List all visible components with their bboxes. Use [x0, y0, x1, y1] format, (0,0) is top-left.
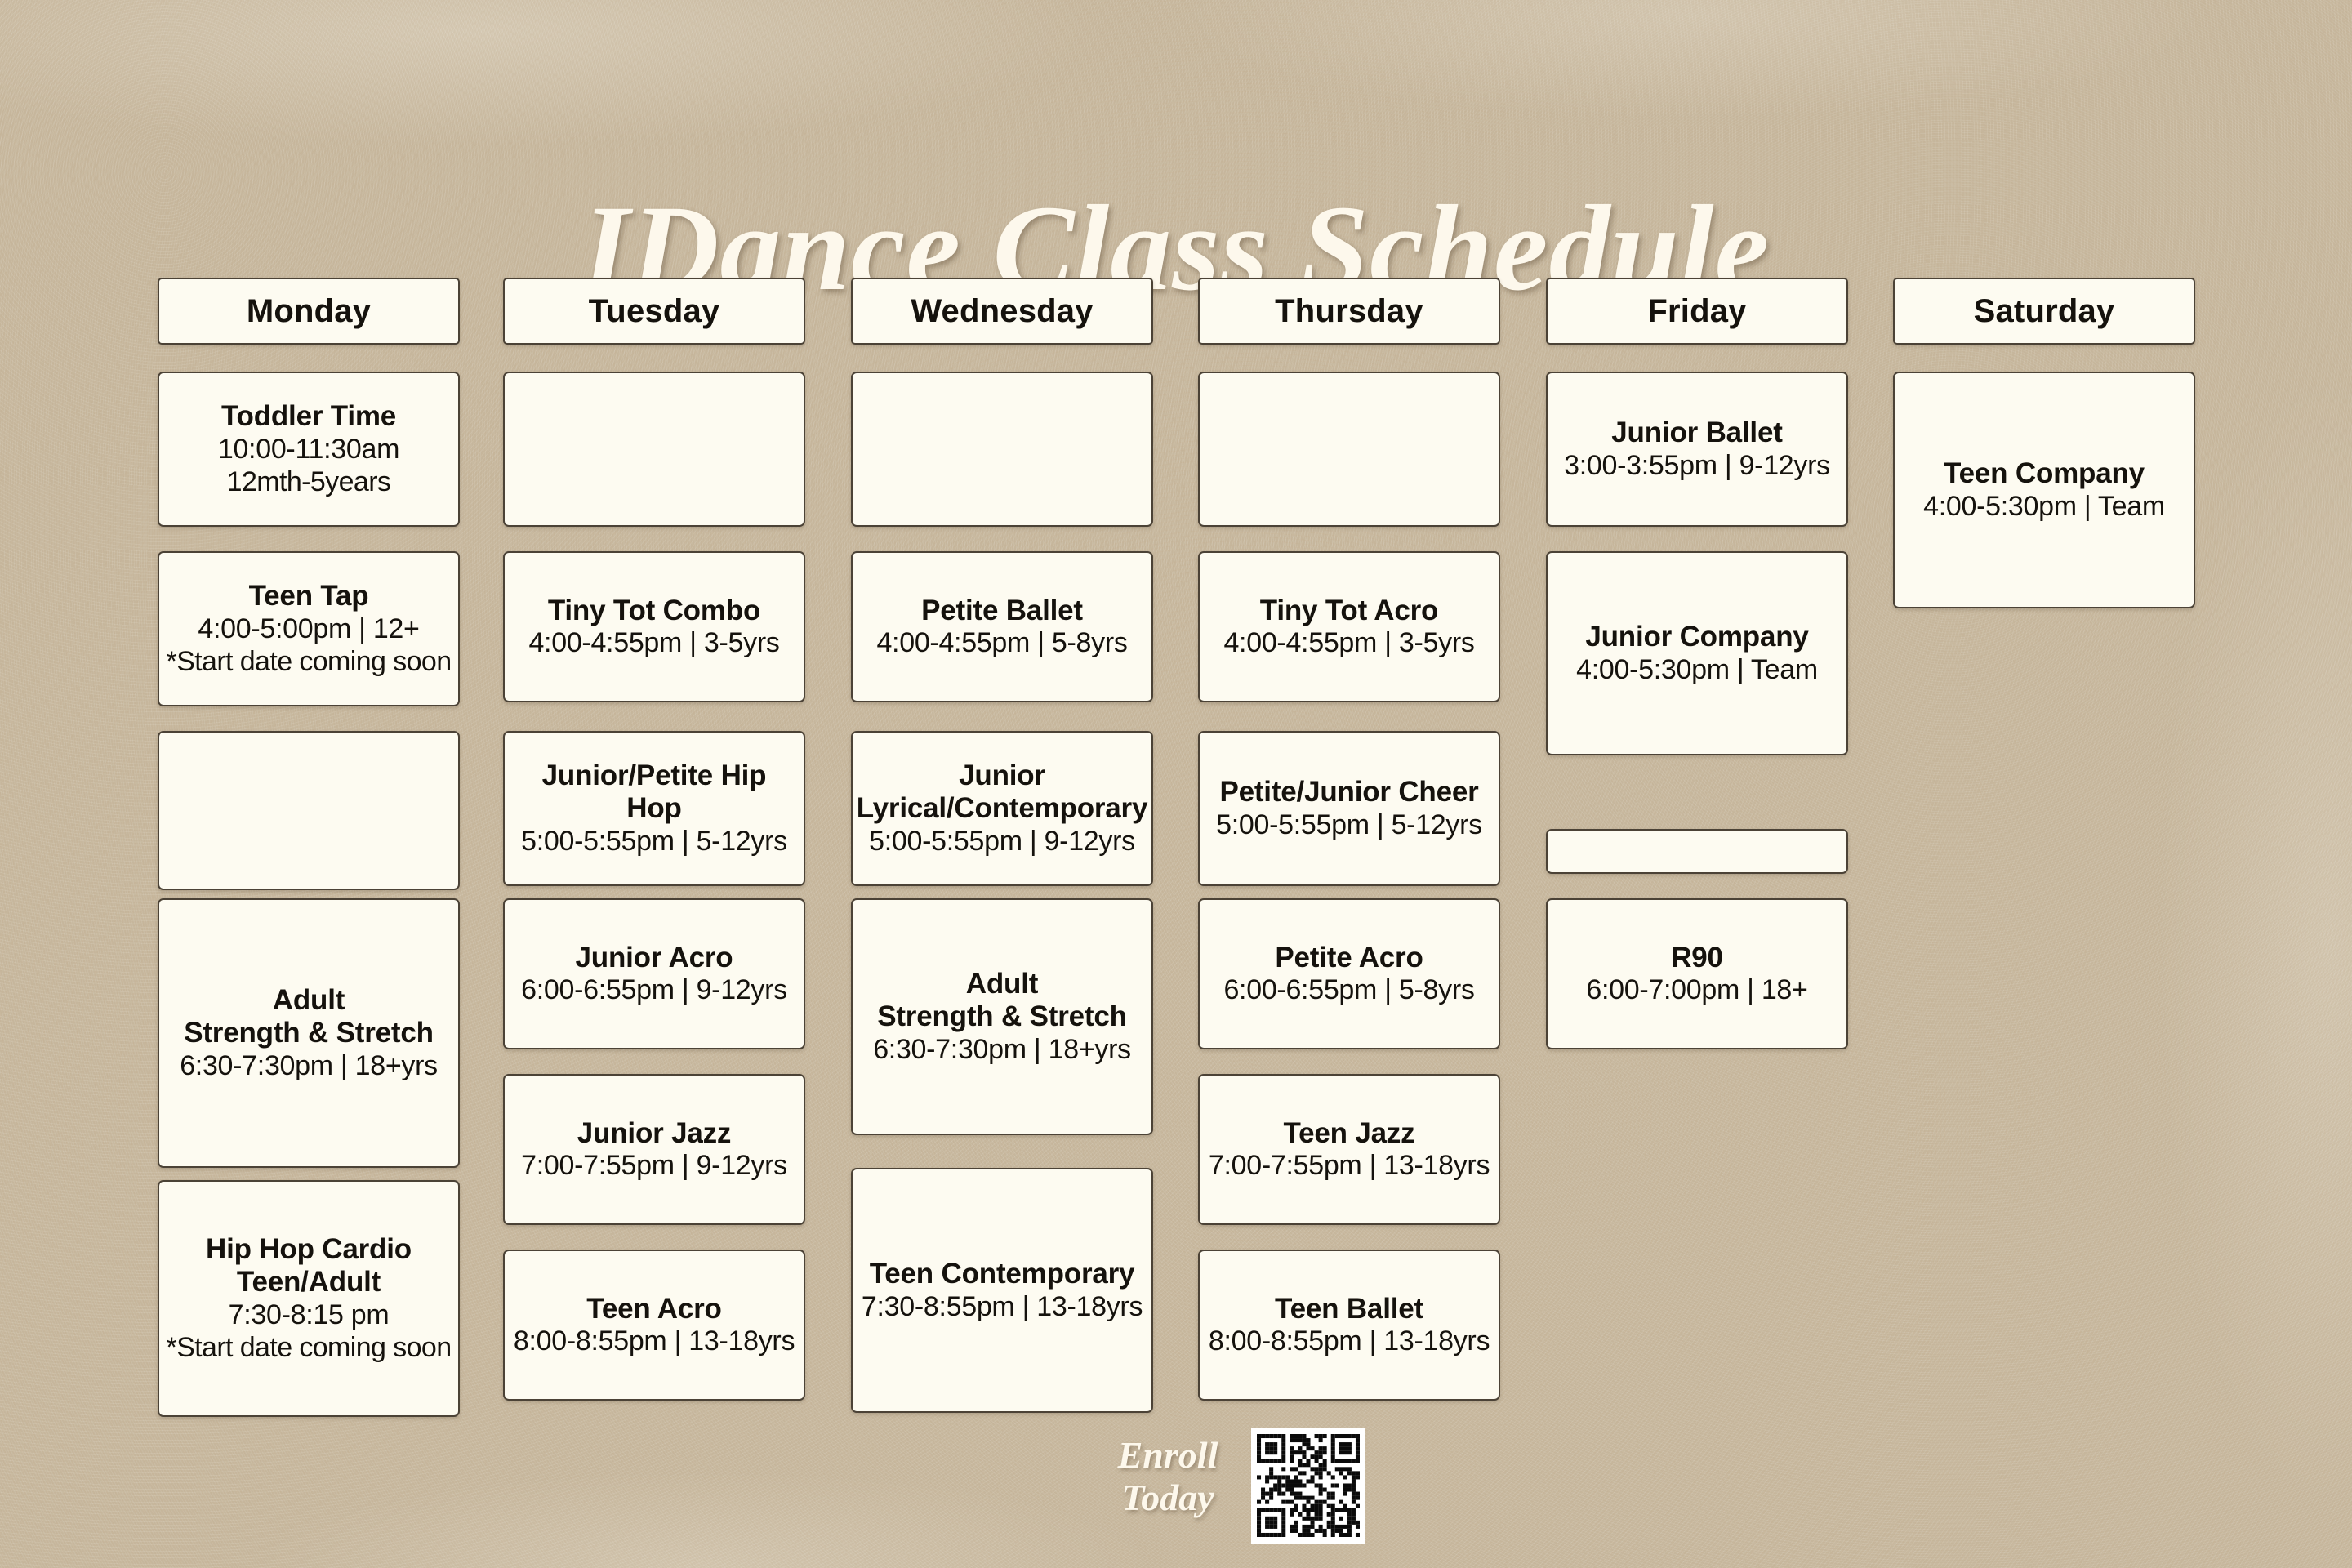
- class-card[interactable]: Junior Acro6:00-6:55pm | 9-12yrs: [503, 898, 805, 1049]
- qr-code[interactable]: [1251, 1428, 1365, 1543]
- schedule-grid: MondayToddler Time10:00-11:30am12mth-5ye…: [0, 0, 2352, 1568]
- day-header-label: Monday: [247, 293, 371, 329]
- class-time-age: 3:00-3:55pm | 9-12yrs: [1564, 449, 1830, 482]
- class-card[interactable]: Hip Hop CardioTeen/Adult7:30-8:15 pm*Sta…: [158, 1180, 460, 1417]
- class-name: Teen Ballet: [1275, 1293, 1423, 1325]
- enroll-line-1: Enroll: [1094, 1434, 1241, 1477]
- class-name: R90: [1671, 942, 1723, 974]
- class-card-empty: [503, 372, 805, 527]
- class-time-age: 7:00-7:55pm | 13-18yrs: [1209, 1149, 1490, 1182]
- class-time-age: 7:00-7:55pm | 9-12yrs: [521, 1149, 787, 1182]
- class-name: Junior Acro: [576, 942, 733, 974]
- day-header-wednesday: Wednesday: [851, 278, 1153, 345]
- class-card[interactable]: Teen Contemporary7:30-8:55pm | 13-18yrs: [851, 1168, 1153, 1413]
- day-header-monday: Monday: [158, 278, 460, 345]
- day-header-label: Thursday: [1275, 293, 1423, 329]
- class-time-age: 4:00-4:55pm | 3-5yrs: [1223, 626, 1474, 659]
- class-card[interactable]: Teen Acro8:00-8:55pm | 13-18yrs: [503, 1249, 805, 1401]
- class-card[interactable]: Petite/Junior Cheer5:00-5:55pm | 5-12yrs: [1198, 731, 1500, 886]
- class-card-empty: [158, 731, 460, 890]
- class-name: Tiny Tot Acro: [1260, 595, 1438, 627]
- class-name: Junior Company: [1585, 621, 1808, 653]
- class-name: Toddler Time: [221, 400, 396, 433]
- class-card-empty: [851, 372, 1153, 527]
- class-name: Petite/Junior Cheer: [1219, 776, 1478, 808]
- class-time-age: 4:00-4:55pm | 5-8yrs: [876, 626, 1127, 659]
- class-name: Teen Acro: [586, 1293, 721, 1325]
- day-column-thursday: ThursdayTiny Tot Acro4:00-4:55pm | 3-5yr…: [1198, 0, 1500, 1568]
- class-card[interactable]: Junior Company4:00-5:30pm | Team: [1546, 551, 1848, 755]
- class-time-age: 8:00-8:55pm | 13-18yrs: [514, 1325, 795, 1357]
- day-column-wednesday: WednesdayPetite Ballet4:00-4:55pm | 5-8y…: [851, 0, 1153, 1568]
- class-note: *Start date coming soon: [166, 645, 451, 678]
- class-name: Petite Ballet: [921, 595, 1083, 627]
- class-card[interactable]: AdultStrength & Stretch6:30-7:30pm | 18+…: [158, 898, 460, 1168]
- class-card-empty: [1198, 372, 1500, 527]
- class-card[interactable]: Tiny Tot Acro4:00-4:55pm | 3-5yrs: [1198, 551, 1500, 702]
- class-card[interactable]: Teen Tap4:00-5:00pm | 12+*Start date com…: [158, 551, 460, 706]
- class-name: Teen Contemporary: [870, 1258, 1135, 1290]
- class-note: *Start date coming soon: [166, 1331, 451, 1364]
- class-card[interactable]: Petite Acro6:00-6:55pm | 5-8yrs: [1198, 898, 1500, 1049]
- day-column-friday: FridayJunior Ballet3:00-3:55pm | 9-12yrs…: [1546, 0, 1848, 1568]
- class-time-age: 7:30-8:15 pm: [229, 1298, 390, 1331]
- class-card[interactable]: Teen Jazz7:00-7:55pm | 13-18yrs: [1198, 1074, 1500, 1225]
- class-card[interactable]: JuniorLyrical/Contemporary5:00-5:55pm | …: [851, 731, 1153, 886]
- class-name: Strength & Stretch: [877, 1000, 1127, 1033]
- day-header-label: Friday: [1647, 293, 1746, 329]
- class-card[interactable]: Petite Ballet4:00-4:55pm | 5-8yrs: [851, 551, 1153, 702]
- class-name: Teen Company: [1944, 457, 2145, 490]
- class-time-age: 5:00-5:55pm | 5-12yrs: [521, 825, 787, 857]
- class-card[interactable]: Tiny Tot Combo4:00-4:55pm | 3-5yrs: [503, 551, 805, 702]
- class-time-age: 10:00-11:30am: [218, 433, 399, 465]
- day-header-saturday: Saturday: [1893, 278, 2195, 345]
- day-header-thursday: Thursday: [1198, 278, 1500, 345]
- class-name: Lyrical/Contemporary: [857, 792, 1147, 825]
- class-card[interactable]: AdultStrength & Stretch6:30-7:30pm | 18+…: [851, 898, 1153, 1135]
- class-time-age: 6:30-7:30pm | 18+yrs: [180, 1049, 438, 1082]
- class-name: Teen Tap: [249, 580, 369, 612]
- class-time-age: 4:00-4:55pm | 3-5yrs: [528, 626, 779, 659]
- footer: Enroll Today: [1094, 1428, 1364, 1550]
- class-card[interactable]: Toddler Time10:00-11:30am12mth-5years: [158, 372, 460, 527]
- class-name: Junior Jazz: [577, 1117, 731, 1150]
- enroll-line-2: Today: [1094, 1477, 1241, 1519]
- class-name: Adult: [273, 984, 345, 1017]
- class-name: Junior: [959, 759, 1045, 792]
- enroll-today-text: Enroll Today: [1094, 1434, 1241, 1518]
- class-card[interactable]: Teen Company4:00-5:30pm | Team: [1893, 372, 2195, 608]
- class-time-age: 5:00-5:55pm | 5-12yrs: [1216, 808, 1482, 841]
- class-time-age: 4:00-5:00pm | 12+: [198, 612, 419, 645]
- class-time-age: 6:00-7:00pm | 18+: [1586, 973, 1807, 1006]
- class-card[interactable]: Junior Jazz7:00-7:55pm | 9-12yrs: [503, 1074, 805, 1225]
- class-name: Teen Jazz: [1284, 1117, 1415, 1150]
- class-time-age: 6:00-6:55pm | 9-12yrs: [521, 973, 787, 1006]
- class-time-age: 4:00-5:30pm | Team: [1923, 490, 2165, 523]
- class-time-age: 5:00-5:55pm | 9-12yrs: [869, 825, 1135, 857]
- class-name: Teen/Adult: [237, 1266, 381, 1298]
- class-name: Hip Hop Cardio: [206, 1233, 412, 1266]
- day-header-label: Tuesday: [589, 293, 720, 329]
- day-header-friday: Friday: [1546, 278, 1848, 345]
- day-header-label: Wednesday: [911, 293, 1093, 329]
- class-name: Tiny Tot Combo: [548, 595, 760, 627]
- class-card-empty: [1546, 829, 1848, 874]
- day-column-monday: MondayToddler Time10:00-11:30am12mth-5ye…: [158, 0, 460, 1568]
- class-card[interactable]: Junior Ballet3:00-3:55pm | 9-12yrs: [1546, 372, 1848, 527]
- class-card[interactable]: R906:00-7:00pm | 18+: [1546, 898, 1848, 1049]
- class-card[interactable]: Teen Ballet8:00-8:55pm | 13-18yrs: [1198, 1249, 1500, 1401]
- class-name: Strength & Stretch: [184, 1017, 434, 1049]
- class-time-age: 7:30-8:55pm | 13-18yrs: [862, 1290, 1143, 1323]
- class-name: Junior Ballet: [1611, 416, 1782, 449]
- class-name: Junior/Petite Hip Hop: [511, 759, 797, 825]
- class-card[interactable]: Junior/Petite Hip Hop5:00-5:55pm | 5-12y…: [503, 731, 805, 886]
- day-header-tuesday: Tuesday: [503, 278, 805, 345]
- class-note: 12mth-5years: [227, 465, 391, 498]
- day-column-tuesday: TuesdayTiny Tot Combo4:00-4:55pm | 3-5yr…: [503, 0, 805, 1568]
- class-time-age: 4:00-5:30pm | Team: [1576, 653, 1818, 686]
- class-name: Petite Acro: [1275, 942, 1423, 974]
- class-time-age: 6:30-7:30pm | 18+yrs: [873, 1033, 1131, 1066]
- class-time-age: 6:00-6:55pm | 5-8yrs: [1223, 973, 1474, 1006]
- day-header-label: Saturday: [1974, 293, 2115, 329]
- day-column-saturday: SaturdayTeen Company4:00-5:30pm | Team: [1893, 0, 2195, 1568]
- class-name: Adult: [966, 968, 1038, 1000]
- class-time-age: 8:00-8:55pm | 13-18yrs: [1209, 1325, 1490, 1357]
